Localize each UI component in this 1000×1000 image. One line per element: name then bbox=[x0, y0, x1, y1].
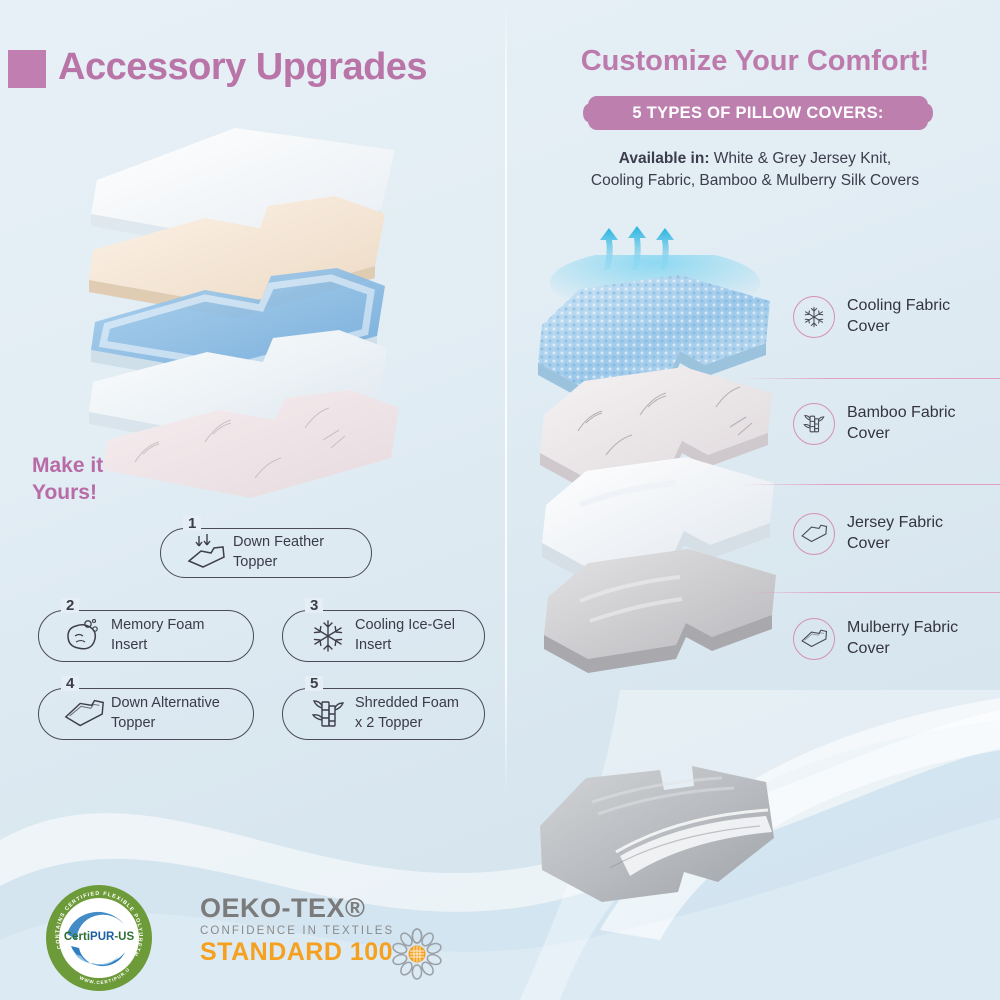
pillow-icon bbox=[793, 513, 835, 555]
cover-label-mulberry: Mulberry FabricCover bbox=[847, 618, 958, 660]
right-pillow-stack bbox=[520, 255, 800, 705]
foam-blob-icon bbox=[61, 615, 107, 657]
bamboo-icon bbox=[793, 403, 835, 445]
accessory-number-4: 4 bbox=[61, 676, 79, 691]
cover-label-bamboo: Bamboo FabricCover bbox=[847, 403, 956, 445]
accessory-pill-4[interactable]: 4 Down AlternativeTopper bbox=[38, 688, 254, 740]
svg-text:CertiPUR-US: CertiPUR-US bbox=[64, 931, 135, 943]
cover-label-cooling: Cooling FabricCover bbox=[847, 296, 950, 338]
pillow-icon bbox=[793, 618, 835, 660]
right-panel-title: Customize Your Comfort! bbox=[520, 45, 990, 78]
cover-row-jersey[interactable]: Jersey FabricCover bbox=[793, 513, 943, 555]
accessory-pill-2[interactable]: 2 Memory FoamInsert bbox=[38, 610, 254, 662]
accessory-number-5: 5 bbox=[305, 676, 323, 691]
accessory-label-3: Cooling Ice-GelInsert bbox=[355, 616, 455, 655]
pillow-icon bbox=[61, 693, 107, 735]
cover-row-cooling[interactable]: Cooling FabricCover bbox=[793, 296, 950, 338]
accessory-label-1: Down FeatherTopper bbox=[233, 533, 324, 572]
available-in-text: Available in: White & Grey Jersey Knit, … bbox=[520, 148, 990, 193]
oeko-tex-standard: STANDARD 100 bbox=[200, 938, 394, 967]
accessory-number-2: 2 bbox=[61, 598, 79, 613]
cover-divider-line-3 bbox=[742, 592, 1000, 593]
accessory-pill-3[interactable]: 3 Cooling Ice-GelInsert bbox=[282, 610, 485, 662]
accessory-label-4: Down AlternativeTopper bbox=[111, 694, 220, 733]
accessory-number-3: 3 bbox=[305, 598, 323, 613]
bamboo-icon bbox=[305, 693, 351, 735]
available-in-line1: White & Grey Jersey Knit, bbox=[709, 150, 891, 167]
certipur-us-badge: CONTAINS CERTIFIED FLEXIBLE POLYURETHANE… bbox=[45, 884, 153, 992]
oeko-tex-badge: OEKO-TEX® CONFIDENCE IN TEXTILES STANDAR… bbox=[200, 893, 394, 967]
oeko-tex-subtitle: CONFIDENCE IN TEXTILES bbox=[200, 925, 394, 937]
cover-row-mulberry[interactable]: Mulberry FabricCover bbox=[793, 618, 958, 660]
page-title: Accessory Upgrades bbox=[58, 46, 427, 89]
accessory-pill-5[interactable]: 5 Shredded Foamx 2 Topper bbox=[282, 688, 485, 740]
panel-divider bbox=[505, 0, 507, 800]
accessory-label-2: Memory FoamInsert bbox=[111, 616, 204, 655]
pillow-down-arrows-icon bbox=[183, 532, 229, 574]
accessory-number-1: 1 bbox=[183, 516, 201, 531]
accessory-label-5: Shredded Foamx 2 Topper bbox=[355, 694, 459, 733]
grey-jersey-pillow bbox=[512, 752, 822, 912]
available-in-prefix: Available in: bbox=[619, 150, 710, 167]
oeko-tex-flower-icon bbox=[388, 925, 446, 983]
available-in-line2: Cooling Fabric, Bamboo & Mulberry Silk C… bbox=[591, 172, 919, 189]
snowflake-icon bbox=[793, 296, 835, 338]
cover-label-jersey: Jersey FabricCover bbox=[847, 513, 943, 555]
infographic-canvas: Accessory Upgrades bbox=[0, 0, 1000, 1000]
title-accent-square bbox=[8, 50, 46, 88]
snowflake-icon bbox=[305, 615, 351, 657]
pillow-covers-badge: 5 TYPES OF PILLOW COVERS: bbox=[588, 96, 928, 130]
cover-divider-line-2 bbox=[742, 484, 1000, 485]
cover-row-bamboo[interactable]: Bamboo FabricCover bbox=[793, 403, 956, 445]
left-pillow-stack bbox=[85, 110, 505, 510]
cover-divider-line-1 bbox=[742, 378, 1000, 379]
accessory-pill-1[interactable]: 1 Down FeatherTopper bbox=[160, 528, 372, 578]
oeko-tex-title: OEKO-TEX® bbox=[200, 893, 394, 924]
make-it-yours-text: Make itYours! bbox=[32, 452, 103, 507]
